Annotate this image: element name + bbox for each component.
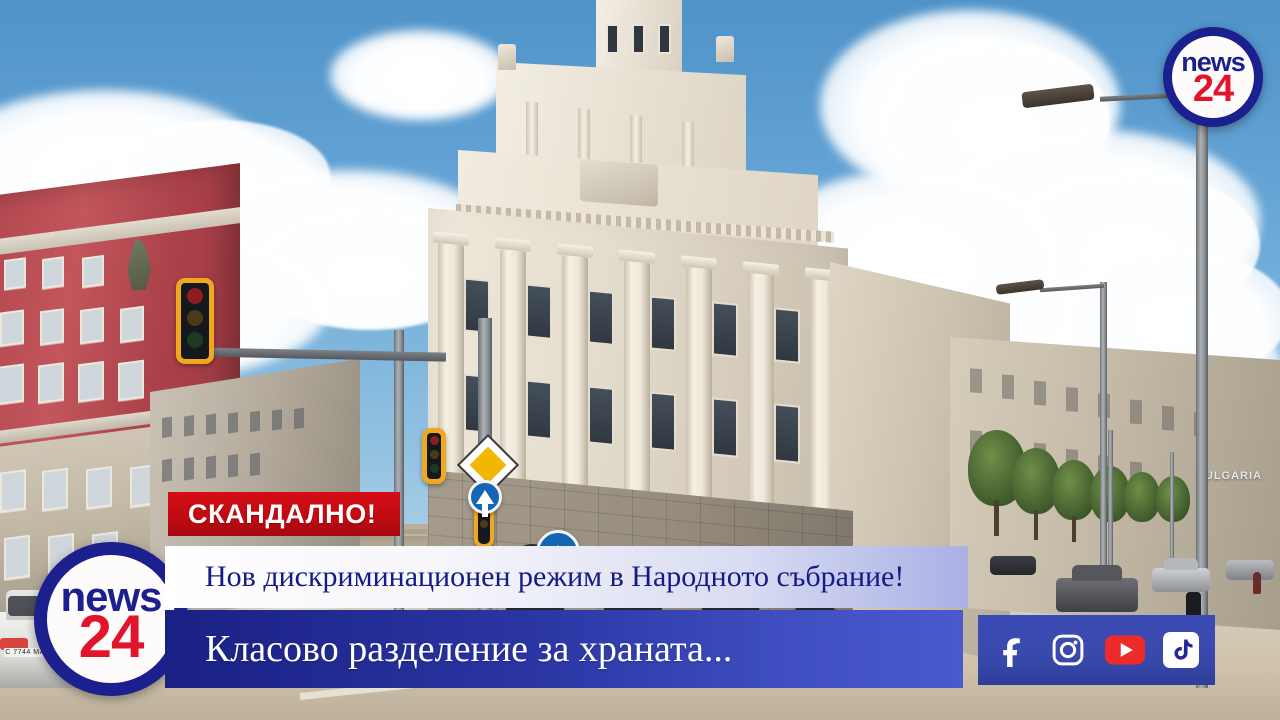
- straight-ahead-sign: [468, 480, 502, 514]
- kicker-banner: СКАНДАЛНО!: [168, 492, 400, 536]
- car-right-4: [1226, 560, 1274, 580]
- headline-bar-secondary: Класово разделение за храната...: [165, 610, 963, 688]
- car-right-2: [1152, 568, 1210, 592]
- social-media-bar: [978, 615, 1215, 685]
- traffic-light-far: [422, 428, 446, 484]
- facebook-icon[interactable]: [992, 630, 1032, 670]
- logo-24-text: 24: [79, 610, 144, 664]
- street-lamp-pole: [1100, 282, 1107, 612]
- cornice: [0, 207, 240, 256]
- headline-bar-primary: Нов дискриминационен режим в Народното с…: [165, 546, 968, 608]
- logo-24-text: 24: [1193, 72, 1233, 106]
- tiktok-icon[interactable]: [1161, 630, 1201, 670]
- traffic-light-near: [176, 278, 214, 364]
- pedestrian: [1253, 572, 1261, 594]
- roof-finial: [716, 36, 734, 62]
- headline-line1-text: Нов дискриминационен режим в Народното с…: [205, 560, 904, 594]
- coat-of-arms-relief: [580, 159, 658, 206]
- instagram-icon[interactable]: [1048, 630, 1088, 670]
- arrow-up-icon: [476, 490, 494, 504]
- car-right-1: [1056, 578, 1138, 612]
- youtube-icon[interactable]: [1105, 630, 1145, 670]
- headline-line2-text: Класово разделение за храната...: [205, 627, 732, 671]
- screenshot-stage: НАРОДНО СЪБРАНИЕ: [0, 0, 1280, 720]
- news24-logo-top[interactable]: news 24: [1163, 27, 1263, 127]
- car-right-3: [990, 556, 1036, 575]
- roof-finial: [498, 44, 516, 70]
- kicker-text: СКАНДАЛНО!: [188, 499, 376, 530]
